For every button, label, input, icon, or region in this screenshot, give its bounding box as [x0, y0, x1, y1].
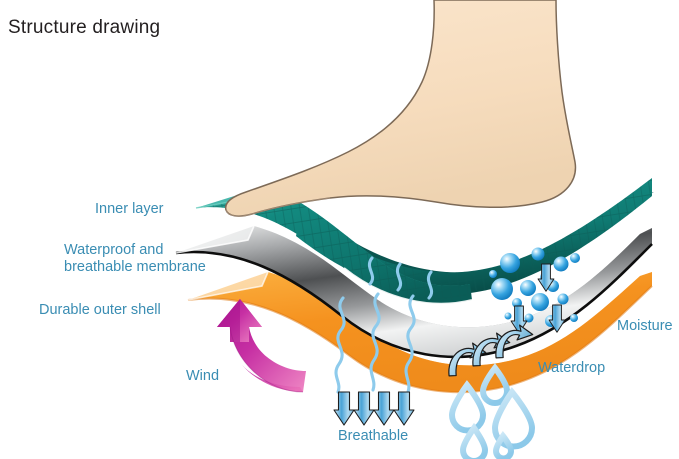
label-wind: Wind: [186, 368, 219, 386]
breathable-arrows: [334, 392, 414, 425]
foot-illustration: [226, 0, 576, 216]
page-title: Structure drawing: [8, 17, 160, 39]
layers-illustration: [0, 0, 679, 459]
label-membrane-line1: Waterproof and: [64, 242, 163, 260]
label-inner-layer: Inner layer: [95, 201, 164, 219]
label-waterdrop: Waterdrop: [538, 360, 605, 378]
structure-drawing-figure: Structure drawing Inner layer Waterproof…: [0, 0, 679, 459]
label-breathable: Breathable: [338, 428, 408, 446]
label-durable-outer-shell: Durable outer shell: [39, 302, 161, 320]
label-membrane-line2: breathable membrane: [64, 259, 206, 277]
label-moisture: Moisture: [617, 318, 673, 336]
